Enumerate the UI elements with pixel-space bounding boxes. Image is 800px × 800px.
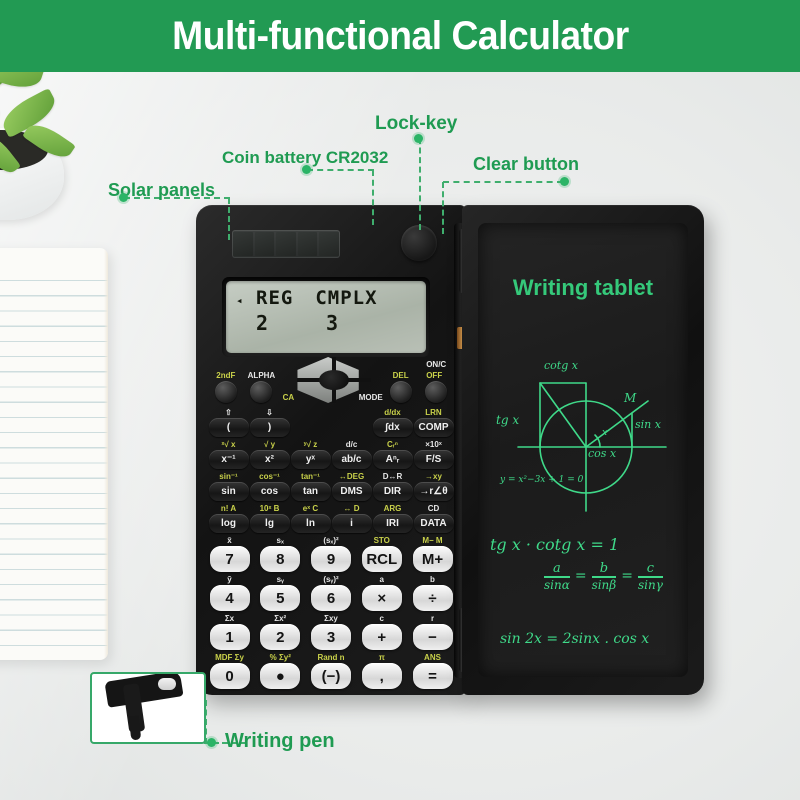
leader-battery-horizontal: [307, 169, 374, 171]
key-sublabel-text: a: [380, 575, 384, 584]
key-sublabel-text: ⇩: [266, 408, 273, 417]
key-cell: eˣ Cln: [290, 503, 331, 533]
key-sublabel-text: ʸ√ z: [304, 440, 318, 449]
key-÷[interactable]: ÷: [413, 585, 453, 611]
key-sublabel-text: c: [380, 614, 384, 623]
key-ab/c[interactable]: ab/c: [332, 450, 372, 469]
key-sublabel: 10ˣ B: [260, 503, 280, 514]
key-(−)[interactable]: (−): [311, 663, 351, 689]
keypad-power-row: ˣ√ xx⁻¹√ yx²ʸ√ zyˣd/cab/cCᵣⁿAⁿᵣ×10ˣF/S: [208, 439, 454, 469]
key-sublabel: ×10ˣ: [425, 439, 442, 450]
unit-circle-sketch: [482, 361, 688, 531]
key-sublabel-text: D↔R: [383, 472, 403, 481]
key-cell: ↔ Di: [331, 503, 372, 533]
key-sublabel-text: ȳ: [227, 575, 231, 584]
key-sublabel-text: sᵧ: [277, 575, 284, 584]
key-sublabel-text: Σx²: [274, 614, 286, 623]
lcd-bezel: ◂ REG CMPLX 2 3: [222, 277, 430, 357]
key-sublabel-text: 10ˣ B: [260, 504, 280, 513]
key-sublabel: ʸ√ z: [304, 439, 318, 450]
key-cell: sₓ8: [259, 535, 302, 572]
key-sublabel: n! A: [221, 503, 236, 514]
direction-pad[interactable]: [297, 357, 358, 403]
lock-key-button[interactable]: [401, 225, 437, 261]
key-cell: tan⁻¹tan: [290, 471, 331, 501]
key-1[interactable]: 1: [210, 624, 250, 650]
key-sublabel-del: DEL: [393, 370, 409, 381]
key-sublabel-text: r: [431, 614, 434, 623]
note-b-num: b: [592, 561, 617, 576]
key-cell: ⇧(: [208, 407, 249, 437]
key-sublabel: →xy: [425, 471, 442, 482]
fraction-a-over-sina: a sinα: [544, 561, 570, 592]
key-cell: a×: [360, 574, 403, 611]
key-3[interactable]: 3: [311, 624, 351, 650]
key-alpha[interactable]: [250, 381, 272, 403]
leader-dot-solar: [119, 193, 128, 202]
writing-tablet-title: Writing tablet: [478, 275, 688, 301]
key-sublabel: √ y: [264, 439, 275, 450]
key-sublabel: LRN: [425, 407, 441, 418]
key-sublabel-text: ˣ√ x: [222, 440, 236, 449]
key-DMS[interactable]: DMS: [332, 482, 372, 501]
law-of-sines: a sinα = b sinβ = c sinγ: [544, 561, 663, 592]
sketch-diagonal-left: [540, 383, 586, 447]
note-c-num: c: [638, 561, 663, 576]
key-cell: ⇩): [249, 407, 290, 437]
key-9[interactable]: 9: [311, 546, 351, 572]
key-Aⁿᵣ[interactable]: Aⁿᵣ: [373, 450, 413, 469]
leader-dot-clear: [560, 177, 569, 186]
key-sublabel-text: eˣ C: [303, 504, 318, 513]
note-m: M: [624, 391, 636, 405]
keypad-456-row: ȳ4sᵧ5(sᵧ)²6a×b÷: [208, 574, 454, 611]
key-cell: √ yx²: [249, 439, 290, 469]
key-sublabel: CD: [428, 503, 440, 514]
key-cell: π,: [360, 652, 403, 689]
solar-panel-strip: [232, 230, 340, 258]
note-equals-2: =: [621, 568, 633, 584]
lcd-value-right: 3: [326, 311, 338, 335]
key-sublabel-text: ↔DEG: [339, 472, 364, 481]
key-sublabel-text: cos⁻¹: [259, 472, 280, 481]
key-cell: sᵧ5: [259, 574, 302, 611]
key-sublabel: cos⁻¹: [259, 471, 280, 482]
key-cell: D↔RDIR: [372, 471, 413, 501]
key-sublabel-text: b: [430, 575, 435, 584]
key-sublabel: D↔R: [383, 471, 403, 482]
key-sublabel-text: 2ndF: [216, 371, 235, 380]
note-double-angle: sin 2x = 2sinx . cos x: [500, 631, 649, 647]
key-sublabel: π: [379, 652, 385, 663]
key-F/S[interactable]: F/S: [414, 450, 454, 469]
key-sublabel: ȳ: [227, 574, 231, 585]
solar-cell: [233, 232, 253, 256]
key-cell-onc: ON/C OFF: [418, 359, 454, 403]
key-cell: MDF Σy0: [208, 652, 251, 689]
key-sublabel-alpha: ALPHA: [248, 370, 276, 381]
keypad-paren-row: ⇧(⇩)d/dx∫dxLRNCOMP: [208, 407, 454, 437]
key-=[interactable]: =: [413, 663, 453, 689]
key-→r∠θ[interactable]: →r∠θ: [414, 482, 454, 501]
key-sublabel-text: LRN: [425, 408, 441, 417]
note-cotgx: cotg x: [544, 359, 578, 372]
key-2ndf[interactable]: [215, 381, 237, 403]
key-sublabel-text: x̄: [227, 536, 231, 545]
key-sublabel: eˣ C: [303, 503, 318, 514]
key-sublabel: ↔ D: [344, 503, 360, 514]
writing-tablet-body: Writing tablet cotg x tg x M sin x: [462, 205, 704, 695]
lined-notebook: [0, 248, 108, 660]
key-tan[interactable]: tan: [291, 482, 331, 501]
key-cell-2ndf: 2ndF: [208, 370, 244, 403]
key-sublabel-text: CD: [428, 504, 440, 513]
key-sublabel: a: [380, 574, 384, 585]
leader-dot-battery: [302, 165, 311, 174]
key-DATA[interactable]: DATA: [414, 514, 454, 533]
key-∫dx[interactable]: ∫dx: [373, 418, 413, 437]
calculator-device: ◂ REG CMPLX 2 3 2ndF ALPHA: [196, 205, 704, 697]
key-cell: 10ˣ Blg: [249, 503, 290, 533]
key-cell: Σx²2: [259, 613, 302, 650]
key-lg[interactable]: lg: [250, 514, 290, 533]
key-cell: LRNCOMP: [413, 407, 454, 437]
key-sublabel: d/dx: [384, 407, 400, 418]
key-DIR[interactable]: DIR: [373, 482, 413, 501]
key-sublabel: Rand n: [317, 652, 344, 663]
key-sublabel: M− M: [422, 535, 442, 546]
note-tgx: tg x: [496, 413, 519, 427]
key-yˣ[interactable]: yˣ: [291, 450, 331, 469]
lcd-value-row: 2 3: [256, 311, 418, 335]
leader-clear-horizontal: [443, 181, 563, 183]
key-sublabel-text: ↔ D: [344, 504, 360, 513]
key-sublabel: ARG: [384, 503, 402, 514]
key-sublabel: Σx²: [274, 613, 286, 624]
key-sublabel: Cᵣⁿ: [387, 439, 398, 450]
key-sin[interactable]: sin: [209, 482, 249, 501]
key-cos[interactable]: cos: [250, 482, 290, 501]
key-cell: ARGIRI: [372, 503, 413, 533]
keypad-rows: ⇧(⇩)d/dx∫dxLRNCOMPˣ√ xx⁻¹√ yx²ʸ√ zyˣd/ca…: [208, 407, 454, 689]
pen-top-button: [158, 678, 176, 690]
key-sublabel-text: STO: [374, 536, 390, 545]
key-sublabel-text: →xy: [425, 472, 442, 481]
lcd-display: ◂ REG CMPLX 2 3: [226, 281, 426, 353]
key-sublabel-text: sₓ: [277, 536, 284, 545]
key-on-clear[interactable]: [425, 381, 447, 403]
writing-pen-inset: [90, 672, 206, 744]
key-sublabel: Σx: [225, 613, 234, 624]
solar-cell: [319, 232, 339, 256]
leader-dot-pen: [207, 738, 216, 747]
notebook-page-edge: [104, 248, 108, 660]
key-sublabel-text: ×10ˣ: [425, 440, 442, 449]
lcd-value-left: 2: [256, 311, 268, 335]
key-5[interactable]: 5: [260, 585, 300, 611]
header-banner: Multi-functional Calculator: [0, 0, 800, 72]
leader-solar-vertical: [228, 198, 230, 240]
key-cell: →xy→r∠θ: [413, 471, 454, 501]
key-cell: c+: [360, 613, 403, 650]
page-title: Multi-functional Calculator: [172, 14, 629, 59]
lcd-mode-cmplx: CMPLX: [315, 287, 377, 309]
key-cell: Rand n(−): [310, 652, 353, 689]
key-cell-ca: CA: [279, 392, 297, 403]
annotation-lock-key: Lock-key: [375, 113, 457, 135]
key-6[interactable]: 6: [311, 585, 351, 611]
key-cell: M− MM+: [411, 535, 454, 572]
key-cell: n! Alog: [208, 503, 249, 533]
key-4[interactable]: 4: [210, 585, 250, 611]
annotation-writing-pen: Writing pen: [225, 730, 335, 753]
key-sublabel: (sₓ)²: [323, 535, 338, 546]
key-cell: sin⁻¹sin: [208, 471, 249, 501]
stylus-pen: [100, 676, 186, 740]
keypad-123-row: Σx1Σx²2Σxy3c+r−: [208, 613, 454, 650]
key-cell: x̄7: [208, 535, 251, 572]
key-)[interactable]: ): [250, 418, 290, 437]
key-sublabel-text: π: [379, 653, 385, 662]
key-sublabel: STO: [374, 535, 390, 546]
key-sublabel-text: d/c: [346, 440, 358, 449]
key-sublabel: d/c: [346, 439, 358, 450]
key-cell: ANS=: [411, 652, 454, 689]
key-RCL[interactable]: RCL: [362, 546, 402, 572]
key-2[interactable]: 2: [260, 624, 300, 650]
note-cosx: cos x: [588, 447, 616, 460]
note-identity: tg x · cotg x = 1: [490, 535, 619, 554]
key-COMP[interactable]: COMP: [414, 418, 454, 437]
key-cell: [290, 407, 331, 437]
key-sublabel-text-off: OFF: [426, 371, 442, 380]
note-equals-1: =: [575, 568, 587, 584]
key-cell: (sᵧ)²6: [310, 574, 353, 611]
fraction-c-over-sinc: c sinγ: [638, 561, 663, 592]
key-([interactable]: (: [209, 418, 249, 437]
lcd-mode-reg: REG: [256, 287, 293, 309]
leader-dot-lock: [414, 134, 423, 143]
solar-cell: [298, 232, 318, 256]
key-sublabel-text: tan⁻¹: [301, 472, 320, 481]
key-sublabel-text: Σxy: [324, 614, 338, 623]
note-sinx: sin x: [635, 418, 661, 431]
key-sublabel-2ndf: 2ndF: [216, 370, 235, 381]
key-sublabel: sin⁻¹: [219, 471, 237, 482]
key-−[interactable]: −: [413, 624, 453, 650]
fraction-b-over-sinb: b sinβ: [592, 561, 617, 592]
note-quadratic: y = x²−3x + 1 = 0: [500, 475, 583, 485]
solar-cell: [255, 232, 275, 256]
note-a-den: sinα: [544, 578, 570, 592]
key-sublabel: ˣ√ x: [222, 439, 236, 450]
key-sublabel: c: [380, 613, 384, 624]
key-cell-del: DEL: [383, 370, 419, 403]
key-sublabel-text: Rand n: [317, 653, 344, 662]
key-0[interactable]: 0: [210, 663, 250, 689]
leader-clear-vertical: [442, 182, 444, 234]
key-log[interactable]: log: [209, 514, 249, 533]
lcd-indicator-arrow: ◂: [236, 294, 243, 307]
key-cell: ×10ˣF/S: [413, 439, 454, 469]
key-cell: ↔DEGDMS: [331, 471, 372, 501]
keypad-zero-row: MDF Σy0% Σy²●Rand n(−)π,ANS=: [208, 652, 454, 689]
key-cell: ȳ4: [208, 574, 251, 611]
key-sublabel-text: d/dx: [384, 408, 400, 417]
note-c-den: sinγ: [638, 578, 663, 592]
key-cell: ˣ√ xx⁻¹: [208, 439, 249, 469]
leader-lock-vertical: [419, 138, 421, 230]
key-sublabel: tan⁻¹: [301, 471, 320, 482]
key-sublabel: ↔DEG: [339, 471, 364, 482]
key-●[interactable]: ●: [260, 663, 300, 689]
key-cell: STORCL: [360, 535, 403, 572]
key-×[interactable]: ×: [362, 585, 402, 611]
key-8[interactable]: 8: [260, 546, 300, 572]
key-+[interactable]: +: [362, 624, 402, 650]
key-sublabel: b: [430, 574, 435, 585]
keypad: 2ndF ALPHA CA MODE: [208, 357, 454, 691]
key-cell-mode: MODE: [359, 392, 383, 403]
key-cell: % Σy²●: [259, 652, 302, 689]
key-cell: Σx1: [208, 613, 251, 650]
key-sublabel-text: MODE: [359, 393, 383, 402]
key-cell: cos⁻¹cos: [249, 471, 290, 501]
keypad-789-row: x̄7sₓ8(sₓ)²9STORCLM− MM+: [208, 535, 454, 572]
key-sublabel-text: ANS: [424, 653, 441, 662]
key-sublabel: sᵧ: [277, 574, 284, 585]
key-sublabel-text: M− M: [422, 536, 442, 545]
key-sublabel-text: (sₓ)²: [323, 536, 338, 545]
key-sublabel: % Σy²: [270, 652, 291, 663]
key-sublabel-text: n! A: [221, 504, 236, 513]
note-b-den: sinβ: [592, 578, 617, 592]
key-IRI[interactable]: IRI: [373, 514, 413, 533]
key-7[interactable]: 7: [210, 546, 250, 572]
key-x⁻¹[interactable]: x⁻¹: [209, 450, 249, 469]
key-sublabel: Σxy: [324, 613, 338, 624]
key-sublabel: sₓ: [277, 535, 284, 546]
key-i[interactable]: i: [332, 514, 372, 533]
note-angle-x: x: [602, 428, 607, 438]
key-cell: d/dx∫dx: [372, 407, 413, 437]
calculator-body: ◂ REG CMPLX 2 3 2ndF ALPHA: [196, 205, 466, 695]
key-,[interactable]: ,: [362, 663, 402, 689]
key-sublabel: ⇩: [266, 407, 273, 418]
lcd-status-row: REG CMPLX: [256, 287, 418, 309]
key-cell: Σxy3: [310, 613, 353, 650]
key-sublabel-text: MDF Σy: [215, 653, 244, 662]
keypad-top-row: 2ndF ALPHA CA MODE: [208, 357, 454, 403]
key-sublabel-onc: ON/C OFF: [426, 359, 446, 381]
key-sublabel-text: ⇧: [225, 408, 232, 417]
solar-cell: [276, 232, 296, 256]
key-cell: CDDATA: [413, 503, 454, 533]
key-sublabel-text: ALPHA: [248, 371, 276, 380]
key-sublabel-text: √ y: [264, 440, 275, 449]
key-sublabel-mode: MODE: [359, 392, 383, 403]
key-sublabel-text: Σx: [225, 614, 234, 623]
key-del[interactable]: [390, 381, 412, 403]
keypad-trig-row: sin⁻¹sincos⁻¹costan⁻¹tan↔DEGDMSD↔RDIR→xy…: [208, 471, 454, 501]
key-sublabel: ANS: [424, 652, 441, 663]
key-cell: (sₓ)²9: [310, 535, 353, 572]
key-sublabel: ⇧: [225, 407, 232, 418]
annotation-clear-button: Clear button: [473, 154, 579, 175]
key-M+[interactable]: M+: [413, 546, 453, 572]
key-sublabel-ca: CA: [283, 392, 295, 403]
key-sublabel-text: Cᵣⁿ: [387, 440, 398, 449]
key-cell: ʸ√ zyˣ: [290, 439, 331, 469]
key-cell: b÷: [411, 574, 454, 611]
key-cell: CᵣⁿAⁿᵣ: [372, 439, 413, 469]
writing-tablet-screen[interactable]: Writing tablet cotg x tg x M sin x: [478, 223, 688, 677]
key-sublabel-text: % Σy²: [270, 653, 291, 662]
keypad-log-row: n! Alog10ˣ Blgeˣ Cln↔ DiARGIRICDDATA: [208, 503, 454, 533]
key-sublabel: x̄: [227, 535, 231, 546]
key-sublabel-text: DEL: [393, 371, 409, 380]
key-sublabel-text: sin⁻¹: [219, 472, 237, 481]
key-cell: [331, 407, 372, 437]
key-sublabel-text: CA: [283, 393, 295, 402]
leader-battery-vertical: [372, 170, 374, 225]
key-sublabel: MDF Σy: [215, 652, 244, 663]
key-ln[interactable]: ln: [291, 514, 331, 533]
key-cell: r−: [411, 613, 454, 650]
key-cell-alpha: ALPHA: [244, 370, 280, 403]
key-sublabel-text: (sᵧ)²: [323, 575, 338, 584]
key-sublabel-text: ARG: [384, 504, 402, 513]
key-sublabel-text-on: ON/C: [426, 360, 446, 369]
note-a-num: a: [544, 561, 570, 576]
key-x²[interactable]: x²: [250, 450, 290, 469]
key-sublabel: r: [431, 613, 434, 624]
notebook-ruled-lines: [0, 266, 108, 650]
key-sublabel: (sᵧ)²: [323, 574, 338, 585]
key-cell: d/cab/c: [331, 439, 372, 469]
